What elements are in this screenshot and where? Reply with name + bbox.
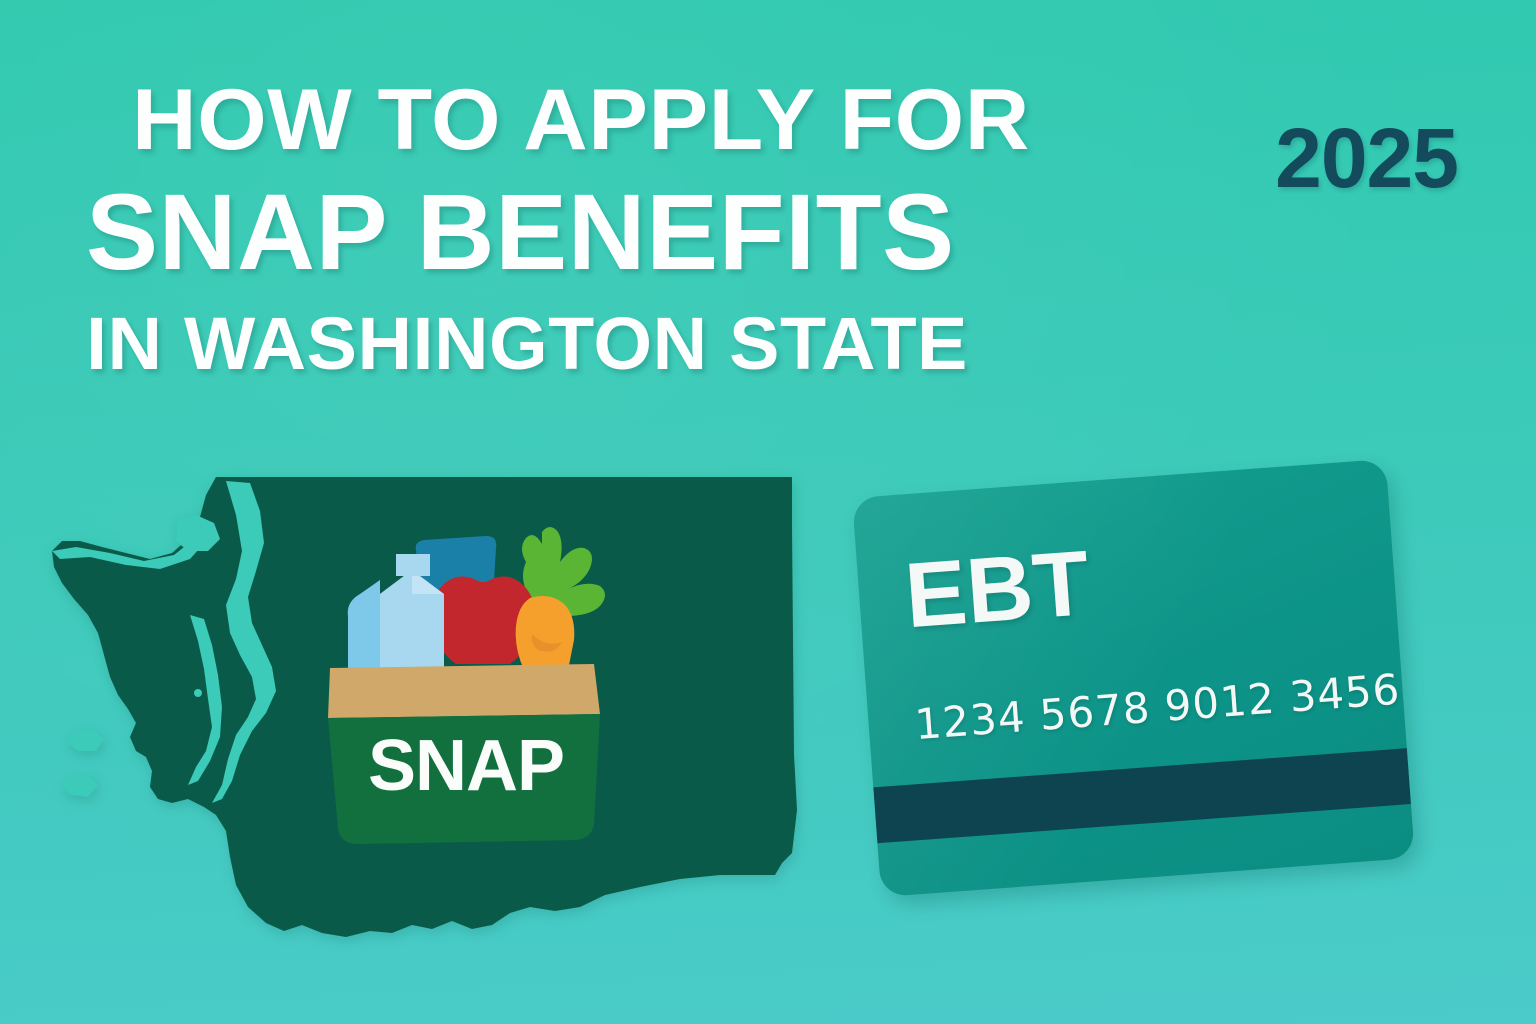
headline-block: How to Apply for SNAP Benefits in Washin…	[86, 72, 1196, 386]
bag-fold-shape	[328, 664, 600, 718]
snap-grocery-bag-icon: SNAP	[318, 508, 613, 848]
carrot-shape	[516, 596, 575, 670]
infographic-canvas: How to Apply for SNAP Benefits in Washin…	[0, 0, 1536, 1024]
year-badge: 2025	[1275, 116, 1458, 200]
headline-line-1: How to Apply for	[132, 72, 1239, 168]
ebt-card: EBT 1234 5678 9012 3456	[852, 459, 1415, 897]
headline-line-2: SNAP Benefits	[86, 172, 1196, 292]
milk-carton-shape	[348, 554, 444, 670]
headline-line-3: in Washington State	[86, 302, 1218, 386]
card-magnetic-stripe	[873, 748, 1411, 843]
snap-bag-label: SNAP	[368, 726, 564, 806]
ebt-card-label: EBT	[902, 537, 1092, 642]
